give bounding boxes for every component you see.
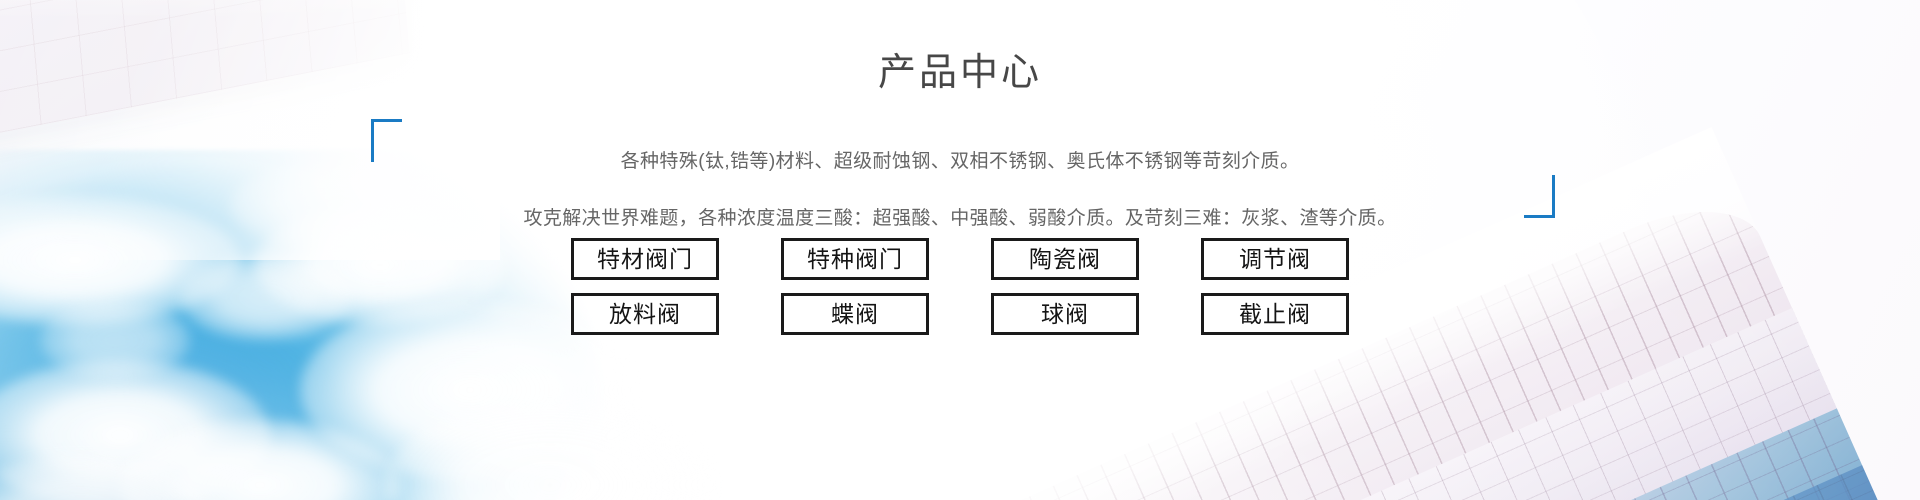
category-button-label: 特种阀门 — [807, 248, 903, 271]
page-title: 产品中心 — [0, 54, 1920, 92]
category-row-2: 放料阀 蝶阀 球阀 截止阀 — [0, 293, 1920, 335]
product-center-banner: 产品中心 各种特殊(钛,锆等)材料、超级耐蚀钢、双相不锈钢、奥氏体不锈钢等苛刻介… — [0, 0, 1920, 500]
category-button-ball-valve[interactable]: 球阀 — [991, 293, 1139, 335]
category-button-grid: 特材阀门 特种阀门 陶瓷阀 调节阀 放料阀 蝶阀 — [0, 238, 1920, 335]
category-button-label: 陶瓷阀 — [1029, 248, 1101, 271]
category-button-label: 特材阀门 — [597, 248, 693, 271]
description-line-1: 各种特殊(钛,锆等)材料、超级耐蚀钢、双相不锈钢、奥氏体不锈钢等苛刻介质。 — [0, 152, 1920, 171]
category-button-ceramic-valve[interactable]: 陶瓷阀 — [991, 238, 1139, 280]
category-button-control-valve[interactable]: 调节阀 — [1201, 238, 1349, 280]
category-button-label: 球阀 — [1041, 303, 1089, 326]
banner-content: 产品中心 各种特殊(钛,锆等)材料、超级耐蚀钢、双相不锈钢、奥氏体不锈钢等苛刻介… — [0, 0, 1920, 500]
category-button-butterfly-valve[interactable]: 蝶阀 — [781, 293, 929, 335]
description-line-2: 攻克解决世界难题，各种浓度温度三酸：超强酸、中强酸、弱酸介质。及苛刻三难：灰浆、… — [0, 209, 1920, 228]
description-block: 各种特殊(钛,锆等)材料、超级耐蚀钢、双相不锈钢、奥氏体不锈钢等苛刻介质。 攻克… — [0, 152, 1920, 228]
category-button-label: 蝶阀 — [831, 303, 879, 326]
category-button-label: 调节阀 — [1239, 248, 1311, 271]
category-button-label: 放料阀 — [609, 303, 681, 326]
category-button-discharge-valve[interactable]: 放料阀 — [571, 293, 719, 335]
category-button-globe-valve[interactable]: 截止阀 — [1201, 293, 1349, 335]
category-row-1: 特材阀门 特种阀门 陶瓷阀 调节阀 — [0, 238, 1920, 280]
category-button-special-material-valve[interactable]: 特材阀门 — [571, 238, 719, 280]
category-button-label: 截止阀 — [1239, 303, 1311, 326]
category-button-special-type-valve[interactable]: 特种阀门 — [781, 238, 929, 280]
